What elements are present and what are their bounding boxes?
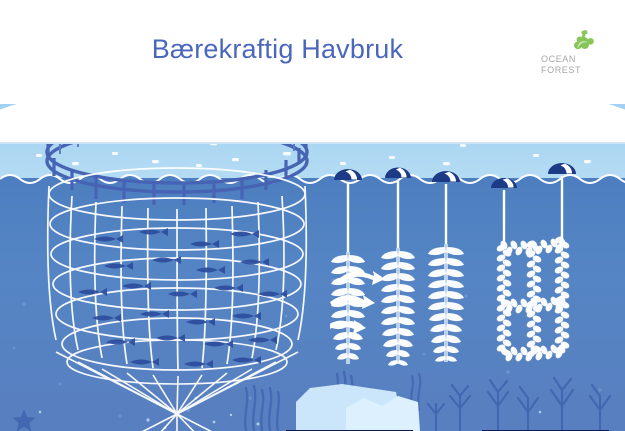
logo-line-ocean: OCEAN — [541, 54, 595, 65]
blue-mussel-farm — [480, 140, 610, 380]
cage-net — [48, 168, 307, 431]
kelp-rope-2 — [381, 248, 415, 366]
mussel-rope-grid — [495, 235, 570, 362]
kelp-rope-3 — [428, 244, 464, 362]
sea-scene: HAVBRUK PRODUKSJON AV MAKROALGER PRODUKS… — [0, 96, 625, 431]
slide-canvas: HAVBRUK PRODUKSJON AV MAKROALGER PRODUKS… — [0, 0, 625, 431]
kelp-rope-1 — [331, 252, 365, 364]
logo-text-block: OCEAN FOREST — [541, 54, 595, 75]
starfish-icon — [12, 409, 35, 431]
page-title: Bærekraftig Havbruk — [0, 34, 625, 65]
kelp-drop-lines — [348, 180, 446, 252]
fish-farm-cage — [44, 114, 324, 431]
header-curve-divider — [0, 72, 625, 142]
coral-fans — [428, 378, 610, 431]
macroalgae-farm — [330, 140, 490, 370]
logo-line-forest: FOREST — [541, 65, 595, 76]
kelp-buoys — [334, 168, 460, 183]
slide-header: Bærekraftig Havbruk OCEAN FOREST — [0, 0, 625, 104]
mussel-buoys — [491, 163, 576, 188]
ocean-forest-logo[interactable]: OCEAN FOREST — [541, 28, 601, 80]
